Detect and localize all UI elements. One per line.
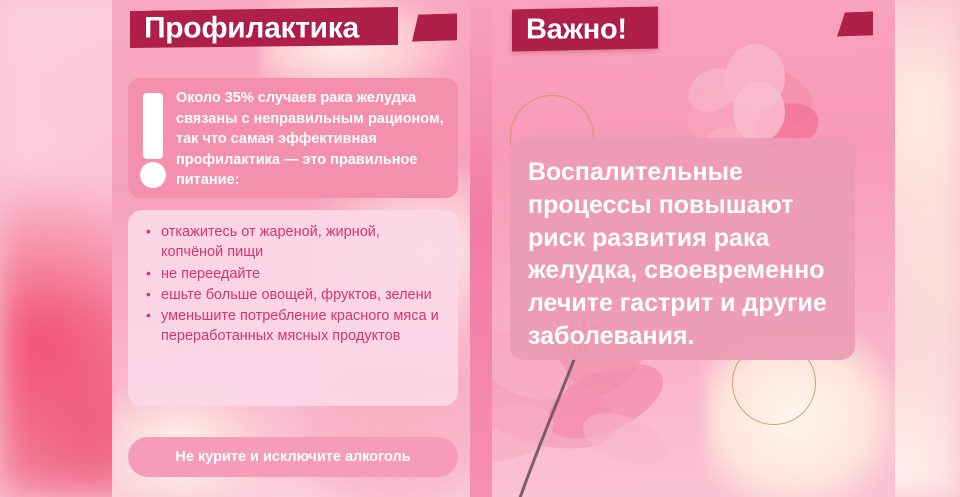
prevention-tips-list: откажитесь от жареной, жирной, копчёной … (144, 222, 442, 347)
no-smoking-alcohol-text: Не курите и исключите алкоголь (175, 449, 410, 465)
list-item: уменьшите потребление красного мяса и пе… (144, 306, 442, 347)
infographic-canvas: Профилактика Около 35% случаев рака желу… (0, 0, 960, 497)
diet-callout-text: Около 35% случаев рака желудка связаны с… (176, 88, 446, 191)
important-header-ribbon: Важно! (512, 6, 658, 51)
inflammation-message-card: Воспалительные процессы повышают риск ра… (510, 138, 855, 360)
ribbon-tail-accent-icon (412, 13, 457, 41)
inflammation-message-text: Воспалительные процессы повышают риск ра… (528, 156, 837, 353)
important-panel: Важно! Воспалительные процессы повышают … (492, 0, 895, 497)
diet-callout-box: Около 35% случаев рака желудка связаны с… (128, 78, 458, 198)
list-item: ешьте больше овощей, фруктов, зелени (144, 285, 442, 305)
ribbon-corner-accent-icon (837, 11, 873, 36)
prevention-tips-card: откажитесь от жареной, жирной, копчёной … (128, 210, 458, 406)
exclamation-mark-icon (138, 90, 168, 190)
prevention-header-ribbon: Профилактика (130, 5, 398, 51)
no-smoking-alcohol-banner: Не курите и исключите алкоголь (128, 437, 458, 477)
panel-divider (470, 0, 492, 497)
important-title: Важно! (512, 13, 627, 46)
list-item: откажитесь от жареной, жирной, копчёной … (144, 222, 442, 263)
page-title: Профилактика (130, 11, 359, 45)
list-item: не переедайте (144, 264, 442, 284)
prevention-panel: Профилактика Около 35% случаев рака желу… (112, 0, 470, 497)
